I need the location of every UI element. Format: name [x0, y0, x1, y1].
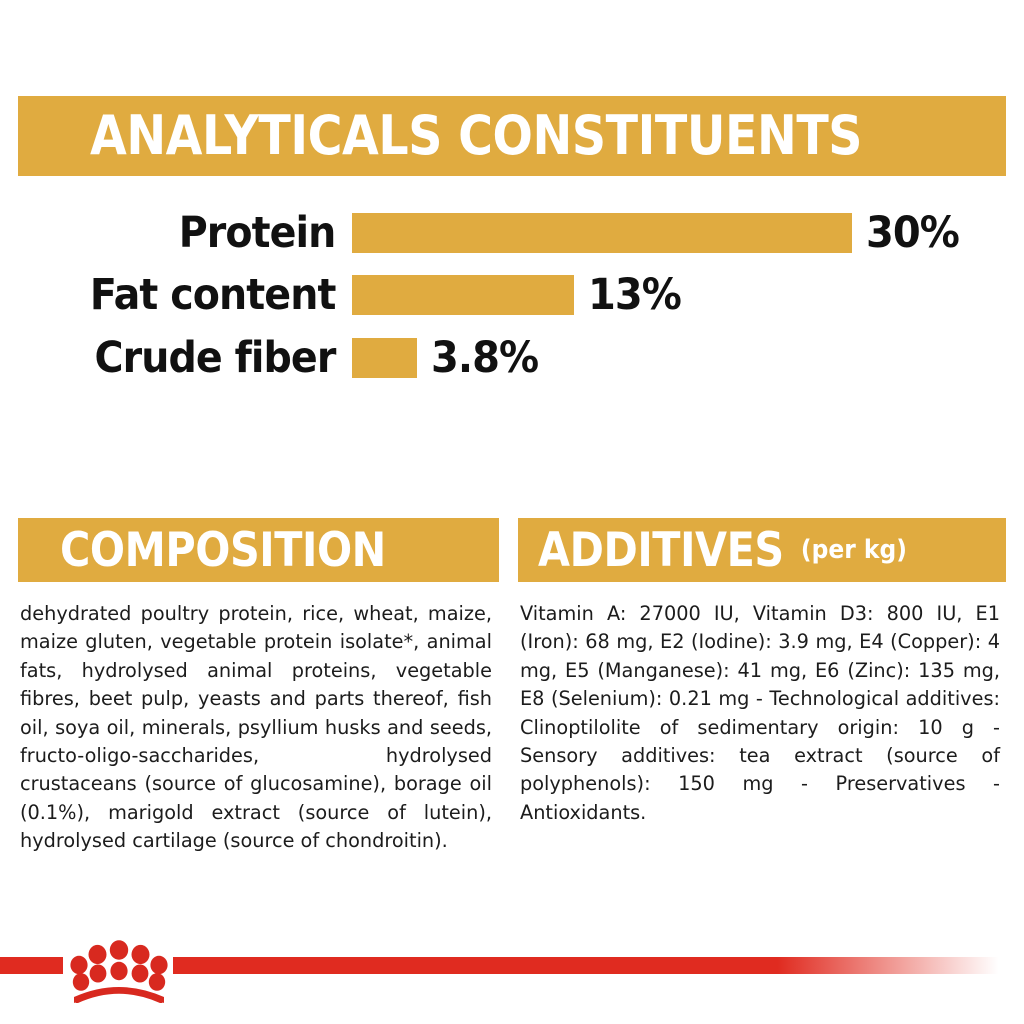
chart-row-fat-content: Fat content 13%	[0, 269, 1024, 321]
footer-rule-left	[0, 957, 63, 974]
bar-track-protein: 30%	[352, 212, 1024, 255]
bar-value-fat-content: 13%	[588, 274, 681, 317]
footer-rule-right	[173, 957, 1024, 974]
bar-track-fat-content: 13%	[352, 274, 1024, 317]
bar-value-crude-fiber: 3.8%	[431, 337, 538, 380]
chart-row-protein: Protein 30%	[0, 207, 1024, 259]
bar-label-crude-fiber: Crude fiber	[28, 337, 352, 380]
composition-heading: COMPOSITION	[60, 527, 386, 574]
analyticals-constituents-banner: ANALYTICALS CONSTITUENTS	[18, 96, 1006, 176]
additives-heading: ADDITIVES	[538, 527, 784, 574]
additives-subheading: (per kg)	[801, 537, 907, 563]
bar-value-protein: 30%	[866, 212, 959, 255]
additives-text: Vitamin A: 27000 IU, Vitamin D3: 800 IU,…	[520, 600, 1000, 827]
royal-canin-crown-icon	[66, 927, 172, 1003]
composition-banner: COMPOSITION	[18, 518, 499, 582]
composition-text: dehydrated poultry protein, rice, wheat,…	[20, 600, 492, 856]
bar-label-fat-content: Fat content	[28, 274, 352, 317]
bar-fill-protein	[352, 213, 852, 253]
bar-fill-fat-content	[352, 275, 574, 315]
analyticals-constituents-title: ANALYTICALS CONSTITUENTS	[90, 109, 862, 163]
footer	[0, 938, 1024, 1024]
product-info-panel: ANALYTICALS CONSTITUENTS Protein 30% Fat…	[0, 0, 1024, 1024]
analyticals-bar-chart: Protein 30% Fat content 13% Crude fiber …	[0, 205, 1024, 395]
bar-label-protein: Protein	[28, 212, 352, 255]
chart-row-crude-fiber: Crude fiber 3.8%	[0, 332, 1024, 384]
bar-track-crude-fiber: 3.8%	[352, 337, 1024, 380]
additives-banner: ADDITIVES (per kg)	[518, 518, 1006, 582]
bar-fill-crude-fiber	[352, 338, 417, 378]
